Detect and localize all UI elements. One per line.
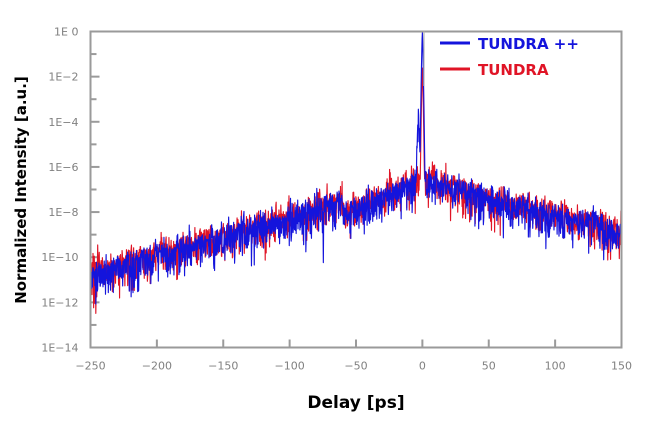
legend-label-tundra-plus-plus: TUNDRA ++ [478,35,579,53]
y-tick-label: 1E−12 [41,296,78,309]
y-tick-label: 1E−6 [48,161,78,174]
x-tick-label: −50 [344,360,367,373]
x-axis-title: Delay [ps] [307,393,404,413]
y-tick-label: 1E 0 [54,26,78,39]
pulse-contrast-chart: 1E 01E−21E−41E−61E−81E−101E−121E−14 −250… [0,0,650,418]
x-tick-label: −150 [208,360,238,373]
y-tick-label: 1E−4 [48,116,78,129]
x-tick-label: −250 [75,360,105,373]
legend-label-tundra: TUNDRA [478,61,549,79]
y-tick-label: 1E−2 [48,71,78,84]
x-tick-label: 150 [611,360,632,373]
y-tick-label: 1E−10 [41,251,78,264]
x-tick-label: 50 [482,360,496,373]
y-tick-label: 1E−8 [48,206,78,219]
x-tick-label: 0 [419,360,426,373]
x-axis-tick-labels: −250−200−150−100−50050100150 [75,360,632,373]
x-tick-label: −200 [142,360,172,373]
x-tick-label: 100 [545,360,566,373]
chart-figure: 1E 01E−21E−41E−61E−81E−101E−121E−14 −250… [0,0,650,418]
x-tick-label: −100 [275,360,305,373]
y-axis-title: Normalized Intensity [a.u.] [12,76,30,304]
y-tick-label: 1E−14 [41,342,78,355]
